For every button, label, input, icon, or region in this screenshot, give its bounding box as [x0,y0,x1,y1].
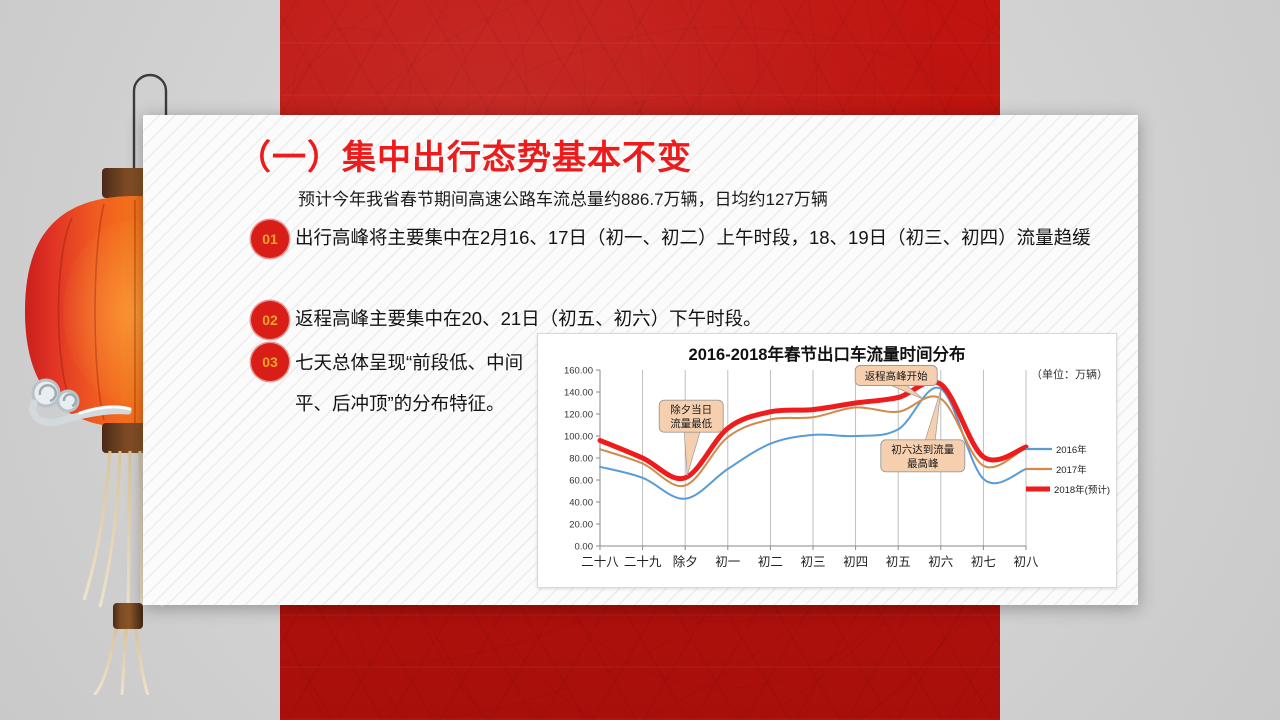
bullet-text-02: 返程高峰主要集中在20、21日（初五、初六）下午时段。 [295,300,995,337]
bullet-text-03: 七天总体呈现“前段低、中间平、后冲顶”的分布特征。 [295,342,525,424]
svg-text:初六: 初六 [928,555,953,569]
svg-text:120.00: 120.00 [564,409,593,420]
bullet-badge-02: 02 [253,303,287,337]
legend-swatch-2018 [1026,484,1050,494]
legend-swatch-2017 [1026,464,1052,474]
legend-item-2017: 2017年 [1026,459,1110,479]
legend-label-2017: 2017年 [1056,462,1087,476]
bullet-badge-01: 01 [253,222,287,256]
legend-item-2016: 2016年 [1026,439,1110,459]
svg-text:二十九: 二十九 [624,555,662,569]
legend-label-2016: 2016年 [1056,442,1087,456]
svg-text:初二: 初二 [758,555,783,569]
svg-text:100.00: 100.00 [564,431,593,442]
chart-legend: 2016年 2017年 2018年(预计) [1026,439,1110,499]
lead-paragraph: 预计今年我省春节期间高速公路车流总量约886.7万辆，日均约127万辆 [298,185,1098,210]
bullet-text-01: 出行高峰将主要集中在2月16、17日（初一、初二）上午时段，18、19日（初三、… [295,219,1145,256]
legend-swatch-2016 [1026,444,1052,454]
slide-root: （一）集中出行态势基本不变 预计今年我省春节期间高速公路车流总量约886.7万辆… [0,0,1280,720]
svg-text:返程高峰开始: 返程高峰开始 [865,370,928,383]
page-title: （一）集中出行态势基本不变 [237,130,692,179]
svg-text:20.00: 20.00 [569,519,593,530]
svg-text:60.00: 60.00 [569,475,593,486]
svg-text:除夕当日: 除夕当日 [670,403,712,416]
svg-text:40.00: 40.00 [569,497,593,508]
content-card: （一）集中出行态势基本不变 预计今年我省春节期间高速公路车流总量约886.7万辆… [143,115,1138,605]
chart-panel: 2016-2018年春节出口车流量时间分布 （单位：万辆） 0.0020.004… [537,333,1117,588]
svg-text:160.00: 160.00 [564,365,593,376]
svg-text:初五: 初五 [886,555,911,569]
legend-label-2018: 2018年(预计) [1054,482,1110,496]
svg-text:除夕: 除夕 [673,554,698,569]
svg-text:80.00: 80.00 [569,453,593,464]
svg-text:初一: 初一 [715,555,740,569]
svg-text:最高峰: 最高峰 [907,457,939,470]
bullet-badge-03: 03 [253,345,287,379]
svg-text:初七: 初七 [971,555,996,569]
svg-text:二十八: 二十八 [581,555,619,569]
svg-text:140.00: 140.00 [564,387,593,398]
svg-text:初六达到流量: 初六达到流量 [891,443,954,456]
svg-text:初四: 初四 [843,555,868,569]
svg-text:初八: 初八 [1013,555,1039,569]
svg-text:初三: 初三 [800,555,825,569]
legend-item-2018: 2018年(预计) [1026,479,1110,499]
svg-text:流量最低: 流量最低 [670,417,712,430]
svg-text:0.00: 0.00 [575,541,594,552]
